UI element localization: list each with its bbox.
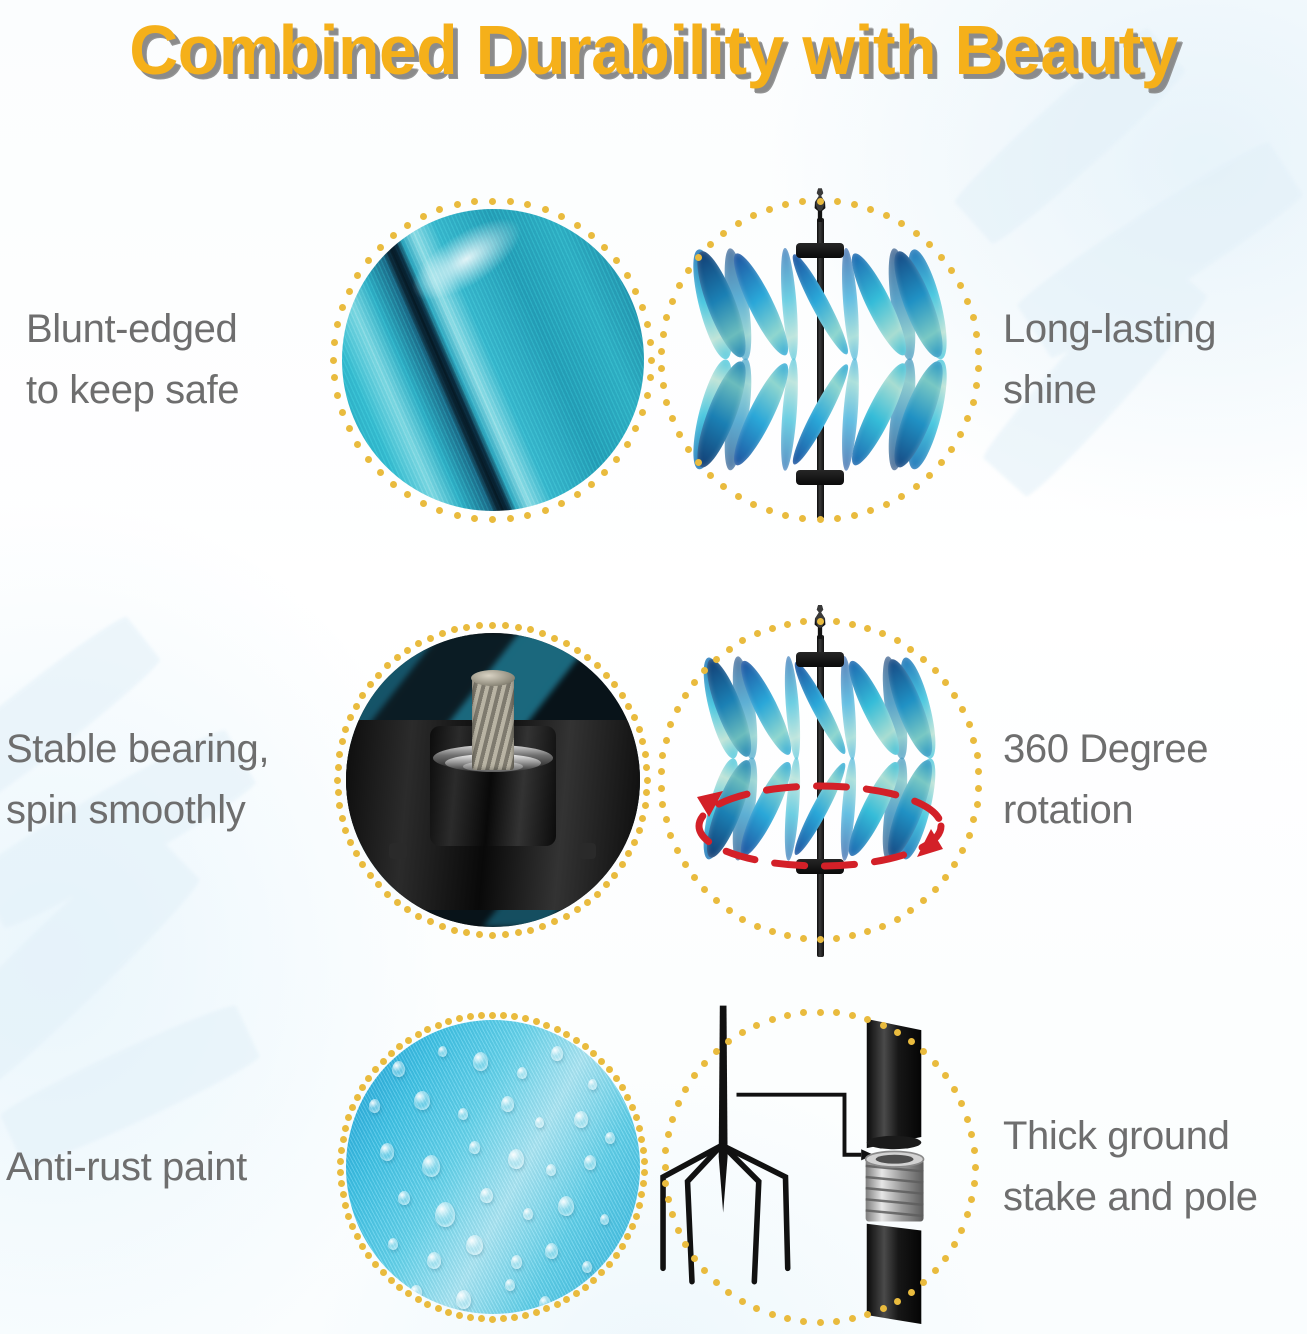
label-line: Long-lasting [1003,299,1307,360]
wind-spinner-product-photo [643,183,997,537]
header-banner: Combined Durability with Beauty [0,0,1307,100]
label-line: rotation [1003,780,1307,841]
feature-label-anti-rust-paint: Anti-rust paint [0,1137,330,1198]
blade-edge-closeup-photo [342,209,644,511]
feature-label-blunt-edge: Blunt-edged to keep safe [0,299,330,421]
feature-image-blade-edge [330,201,655,519]
label-line: Blunt-edged [26,299,326,360]
feature-image-bearing [330,625,655,935]
feature-image-ground-stake [655,1008,985,1326]
ground-stake-and-pole-diagram [643,990,997,1344]
spinner-rotation-diagram [643,603,997,957]
label-line: to keep safe [26,360,326,421]
label-line: Stable bearing, [6,719,326,780]
label-line: stake and pole [1003,1167,1307,1228]
bearing-closeup-photo [346,633,640,927]
label-line: Anti-rust paint [6,1137,326,1198]
label-line: Thick ground [1003,1106,1307,1167]
feature-label-360-rotation: 360 Degree rotation [985,719,1307,841]
label-line: shine [1003,360,1307,421]
feature-image-rotation [655,621,985,939]
water-droplets-on-paint-photo [346,1020,640,1314]
feature-grid: Blunt-edged to keep safe [0,0,1307,1334]
label-line: 360 Degree [1003,719,1307,780]
feature-image-water-droplets [330,1012,655,1322]
feature-label-thick-stake-pole: Thick ground stake and pole [985,1106,1307,1228]
feature-row-3: Anti-rust paint [0,1000,1307,1334]
feature-label-long-lasting-shine: Long-lasting shine [985,299,1307,421]
page-title: Combined Durability with Beauty [129,10,1178,90]
label-line: spin smoothly [6,780,326,841]
feature-image-spinner-shine [655,201,985,519]
feature-label-stable-bearing: Stable bearing, spin smoothly [0,719,330,841]
feature-row-2: Stable bearing, spin smoothly [0,580,1307,980]
feature-row-1: Blunt-edged to keep safe [0,160,1307,560]
